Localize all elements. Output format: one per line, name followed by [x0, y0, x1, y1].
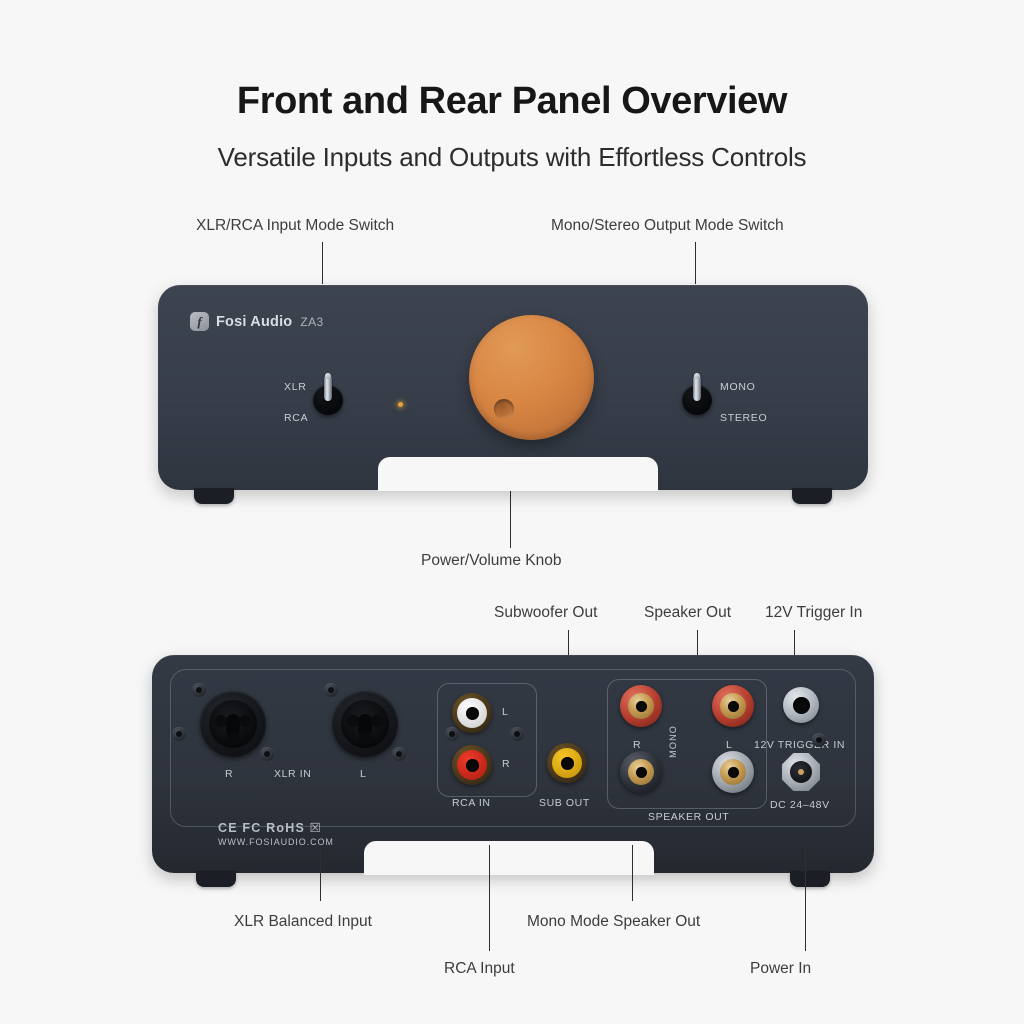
- rca-in-group-label: RCA IN: [452, 797, 491, 809]
- brand-logo: f Fosi Audio ZA3: [190, 312, 324, 331]
- rca-label-right: R: [502, 758, 510, 770]
- callout-subwoofer-out: Subwoofer Out: [494, 604, 597, 622]
- xlr-pin-3: [227, 732, 239, 744]
- chassis-foot-right: [792, 488, 832, 504]
- callout-power-in: Power In: [750, 960, 811, 978]
- leader-line-xlr-balanced-input: [320, 845, 321, 901]
- speaker-post-right-positive[interactable]: [620, 685, 662, 727]
- chassis-foot-left: [196, 871, 236, 887]
- xlr-label-left: L: [360, 768, 366, 780]
- rca-hole: [561, 757, 574, 770]
- leader-line-mono-mode-speaker-out: [632, 845, 633, 901]
- chassis-foot-left: [194, 488, 234, 504]
- speaker-label-left: L: [726, 739, 732, 751]
- rca-hole: [466, 707, 479, 720]
- power-led-indicator: [398, 402, 403, 407]
- mono-stereo-toggle-switch[interactable]: [682, 375, 712, 419]
- rca-input-right-jack[interactable]: [452, 745, 492, 785]
- panel-screw: [445, 727, 459, 741]
- xlr-pin-2: [239, 715, 251, 727]
- page-subtitle: Versatile Inputs and Outputs with Effort…: [0, 142, 1024, 173]
- input-switch-label-rca: RCA: [284, 412, 308, 424]
- rca-hole: [466, 759, 479, 772]
- xlr-pin-2: [371, 715, 383, 727]
- brand-name: Fosi Audio: [216, 314, 292, 330]
- post-binding: [628, 693, 654, 719]
- dc-barrel: [790, 761, 812, 783]
- speaker-out-group-label: SPEAKER OUT: [648, 811, 729, 823]
- model-name: ZA3: [300, 315, 323, 329]
- post-binding: [720, 693, 746, 719]
- chassis-bottom-notch: [378, 457, 658, 491]
- toggle-lever[interactable]: [324, 375, 332, 401]
- subwoofer-out-jack[interactable]: [547, 743, 587, 783]
- xlr-jack-inner: [209, 700, 257, 748]
- xlr-label-right: R: [225, 768, 233, 780]
- panel-screw: [392, 747, 406, 761]
- trigger-in-label: 12V TRIGGER IN: [754, 739, 845, 751]
- front-panel-unit: f Fosi Audio ZA3 XLR RCA VOL / ⏻ MONO ST…: [158, 285, 868, 490]
- post-hole: [636, 701, 647, 712]
- xlr-pin-1: [347, 715, 359, 727]
- leader-line-power-in: [805, 845, 806, 951]
- chassis-bottom-notch: [364, 841, 654, 875]
- regulatory-marks: CE FC RoHS ☒: [218, 820, 334, 835]
- rca-ring: [552, 748, 582, 778]
- trigger-hole: [793, 697, 810, 714]
- rca-input-left-jack[interactable]: [452, 693, 492, 733]
- diagram-canvas: Front and Rear Panel Overview Versatile …: [0, 0, 1024, 1024]
- chassis-foot-right: [790, 871, 830, 887]
- callout-mono-stereo-output-mode-switch: Mono/Stereo Output Mode Switch: [551, 217, 784, 235]
- trigger-in-jack[interactable]: [783, 687, 819, 723]
- speaker-post-left-positive[interactable]: [712, 685, 754, 727]
- xlr-group-label: XLR IN: [274, 768, 311, 780]
- speaker-post-left-negative[interactable]: [712, 751, 754, 793]
- callout-mono-mode-speaker-out: Mono Mode Speaker Out: [527, 913, 700, 931]
- post-binding: [720, 759, 746, 785]
- xlr-pin-3: [359, 732, 371, 744]
- dc-power-jack[interactable]: [782, 753, 820, 791]
- panel-screw: [812, 733, 826, 747]
- output-switch-label-stereo: STEREO: [720, 412, 767, 424]
- xlr-combo-jack-right[interactable]: [200, 691, 266, 757]
- xlr-pin-1: [215, 715, 227, 727]
- sub-out-label: SUB OUT: [539, 797, 590, 809]
- speaker-label-right: R: [633, 739, 641, 751]
- leader-line-rca-input: [489, 845, 490, 951]
- input-switch-label-xlr: XLR: [284, 381, 307, 393]
- post-hole: [728, 701, 739, 712]
- callout-12v-trigger-in: 12V Trigger In: [765, 604, 862, 622]
- speaker-post-right-negative[interactable]: [620, 751, 662, 793]
- callout-speaker-out: Speaker Out: [644, 604, 731, 622]
- callout-rca-input: RCA Input: [444, 960, 515, 978]
- post-hole: [636, 767, 647, 778]
- output-switch-label-mono: MONO: [720, 381, 755, 393]
- xlr-rca-toggle-switch[interactable]: [313, 375, 343, 419]
- dc-center-pin: [798, 769, 804, 775]
- rca-label-left: L: [502, 706, 508, 718]
- regulatory-block: CE FC RoHS ☒ WWW.FOSIAUDIO.COM: [218, 820, 334, 847]
- rca-ring: [457, 750, 487, 780]
- toggle-lever[interactable]: [693, 375, 701, 401]
- xlr-combo-jack-left[interactable]: [332, 691, 398, 757]
- xlr-jack-inner: [341, 700, 389, 748]
- panel-screw: [172, 727, 186, 741]
- leader-line-input-switch: [322, 242, 323, 284]
- page-title: Front and Rear Panel Overview: [0, 80, 1024, 123]
- panel-screw: [324, 683, 338, 697]
- rca-ring: [457, 698, 487, 728]
- post-binding: [628, 759, 654, 785]
- callout-power-volume-knob: Power/Volume Knob: [421, 552, 561, 570]
- leader-line-output-switch: [695, 242, 696, 284]
- panel-screw: [510, 727, 524, 741]
- mono-bracket-label: MONO: [668, 725, 678, 758]
- callout-xlr-balanced-input: XLR Balanced Input: [234, 913, 372, 931]
- panel-screw: [192, 683, 206, 697]
- callout-xlr-rca-input-mode-switch: XLR/RCA Input Mode Switch: [196, 217, 394, 235]
- power-volume-knob[interactable]: VOL / ⏻: [469, 315, 594, 440]
- rear-panel-unit: R XLR IN L L R RCA IN SUB OUT: [152, 655, 874, 873]
- knob-position-indicator: [494, 399, 514, 419]
- panel-screw: [260, 747, 274, 761]
- post-hole: [728, 767, 739, 778]
- manufacturer-website: WWW.FOSIAUDIO.COM: [218, 837, 334, 847]
- fosi-logo-icon: f: [190, 312, 209, 331]
- dc-power-label: DC 24–48V: [770, 799, 830, 811]
